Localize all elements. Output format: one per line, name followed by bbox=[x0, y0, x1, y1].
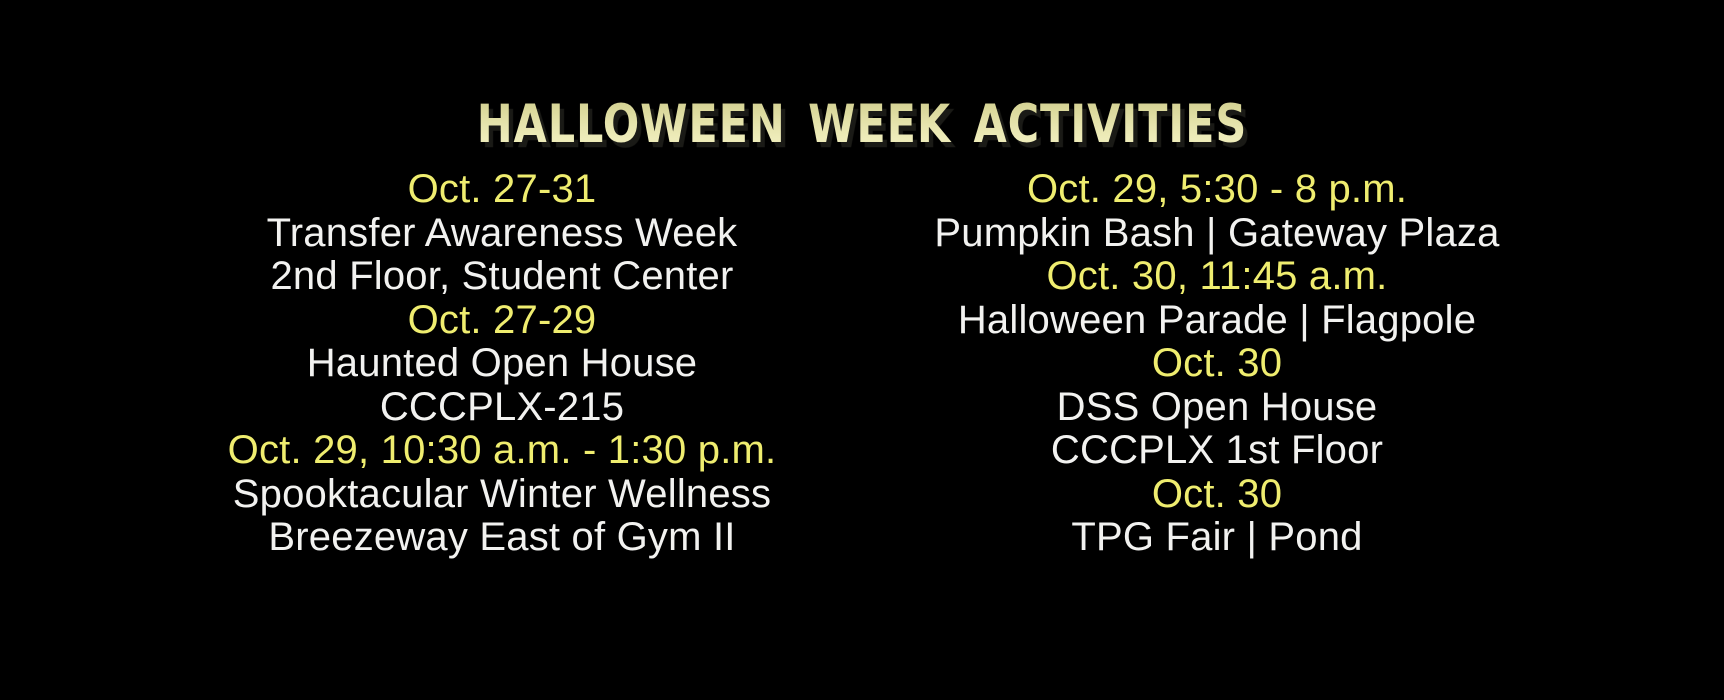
event-date: Oct. 27-29 bbox=[157, 299, 847, 343]
event-date: Oct. 30, 11:45 a.m. bbox=[867, 255, 1567, 299]
event-date: Oct. 29, 5:30 - 8 p.m. bbox=[867, 168, 1567, 212]
event-name: Haunted Open House bbox=[157, 342, 847, 386]
event-date: Oct. 30 bbox=[867, 342, 1567, 386]
event-name: Transfer Awareness Week bbox=[157, 212, 847, 256]
event-name: DSS Open House bbox=[867, 386, 1567, 430]
event-date: Oct. 29, 10:30 a.m. - 1:30 p.m. bbox=[157, 429, 847, 473]
event-location: 2nd Floor, Student Center bbox=[157, 255, 847, 299]
poster-title-container: Halloween Week Activities bbox=[0, 78, 1724, 150]
event-date: Oct. 30 bbox=[867, 473, 1567, 517]
events-column-left: Oct. 27-31 Transfer Awareness Week 2nd F… bbox=[157, 168, 847, 560]
halloween-activities-poster: Halloween Week Activities Oct. 27-31 Tra… bbox=[0, 0, 1724, 700]
event-location: Breezeway East of Gym II bbox=[157, 516, 847, 560]
event-name-location: Pumpkin Bash | Gateway Plaza bbox=[867, 212, 1567, 256]
events-columns: Oct. 27-31 Transfer Awareness Week 2nd F… bbox=[0, 168, 1724, 560]
page-title: Halloween Week Activities bbox=[477, 78, 1247, 154]
event-location: CCCPLX 1st Floor bbox=[867, 429, 1567, 473]
event-name-location: Halloween Parade | Flagpole bbox=[867, 299, 1567, 343]
event-location: CCCPLX-215 bbox=[157, 386, 847, 430]
events-column-right: Oct. 29, 5:30 - 8 p.m. Pumpkin Bash | Ga… bbox=[867, 168, 1567, 560]
event-name: Spooktacular Winter Wellness bbox=[157, 473, 847, 517]
event-name-location: TPG Fair | Pond bbox=[867, 516, 1567, 560]
event-date: Oct. 27-31 bbox=[157, 168, 847, 212]
